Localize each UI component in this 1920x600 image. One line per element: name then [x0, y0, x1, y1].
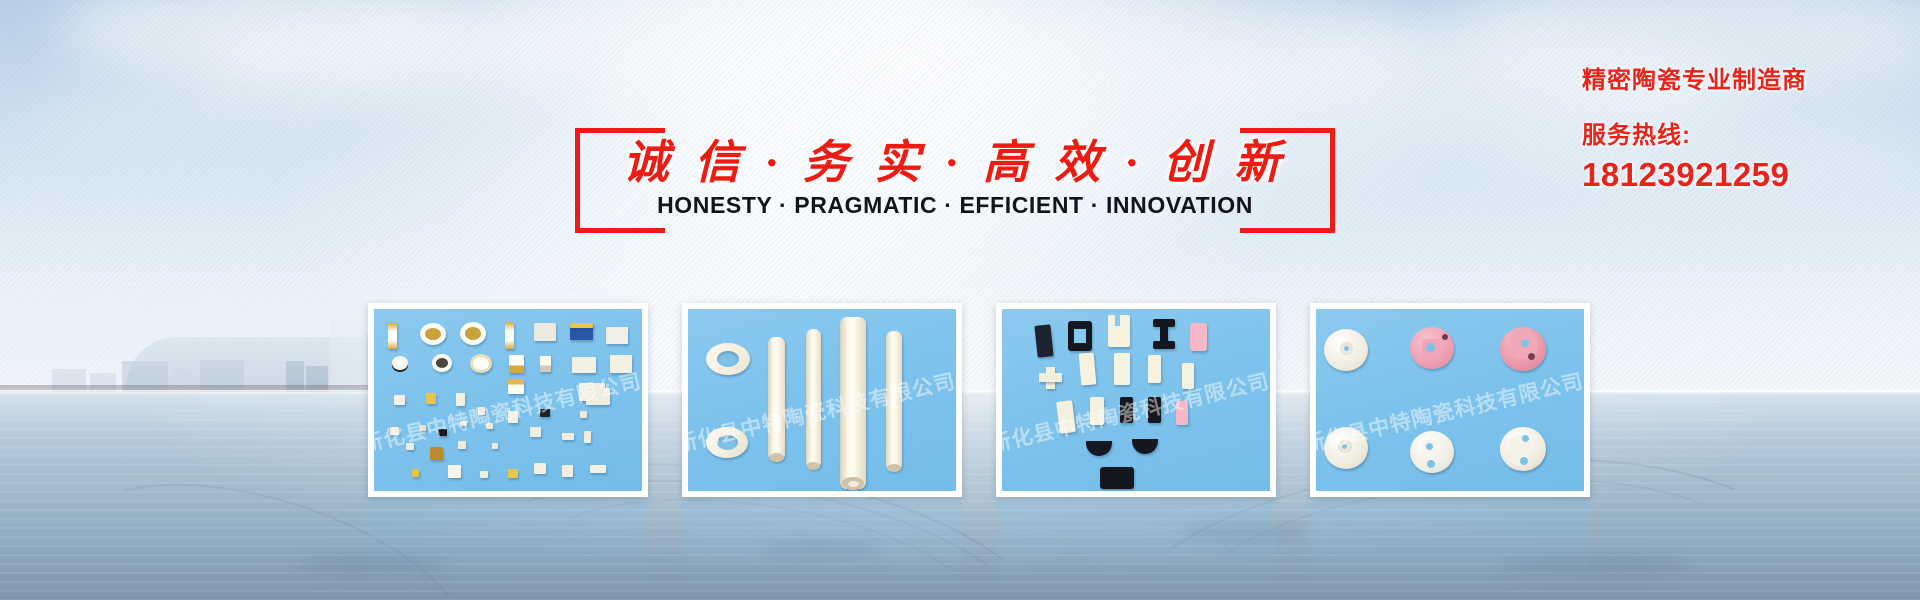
banner-stage: 诚 信 · 务 实 · 高 效 · 创 新 HONESTY · PRAGMATI… — [0, 0, 1920, 600]
panel-1-image: 新化县中特陶瓷科技有限公司 — [374, 309, 642, 491]
product-panel-3[interactable]: 新化县中特陶瓷科技有限公司 — [996, 303, 1276, 497]
panel-4-image: 新化县中特陶瓷科技有限公司 — [1316, 309, 1584, 491]
product-panel-4[interactable]: 新化县中特陶瓷科技有限公司 — [1310, 303, 1590, 497]
product-panel-2[interactable]: 新化县中特陶瓷科技有限公司 — [682, 303, 962, 497]
panel-3-image: 新化县中特陶瓷科技有限公司 — [1002, 309, 1270, 491]
watermark: 新化县中特陶瓷科技有限公司 — [374, 356, 642, 459]
panel-2-image: 新化县中特陶瓷科技有限公司 — [688, 309, 956, 491]
product-panel-row: 新化县中特陶瓷科技有限公司 新化县中特陶瓷科技有限公司 — [0, 0, 1920, 600]
product-panel-1[interactable]: 新化县中特陶瓷科技有限公司 — [368, 303, 648, 497]
